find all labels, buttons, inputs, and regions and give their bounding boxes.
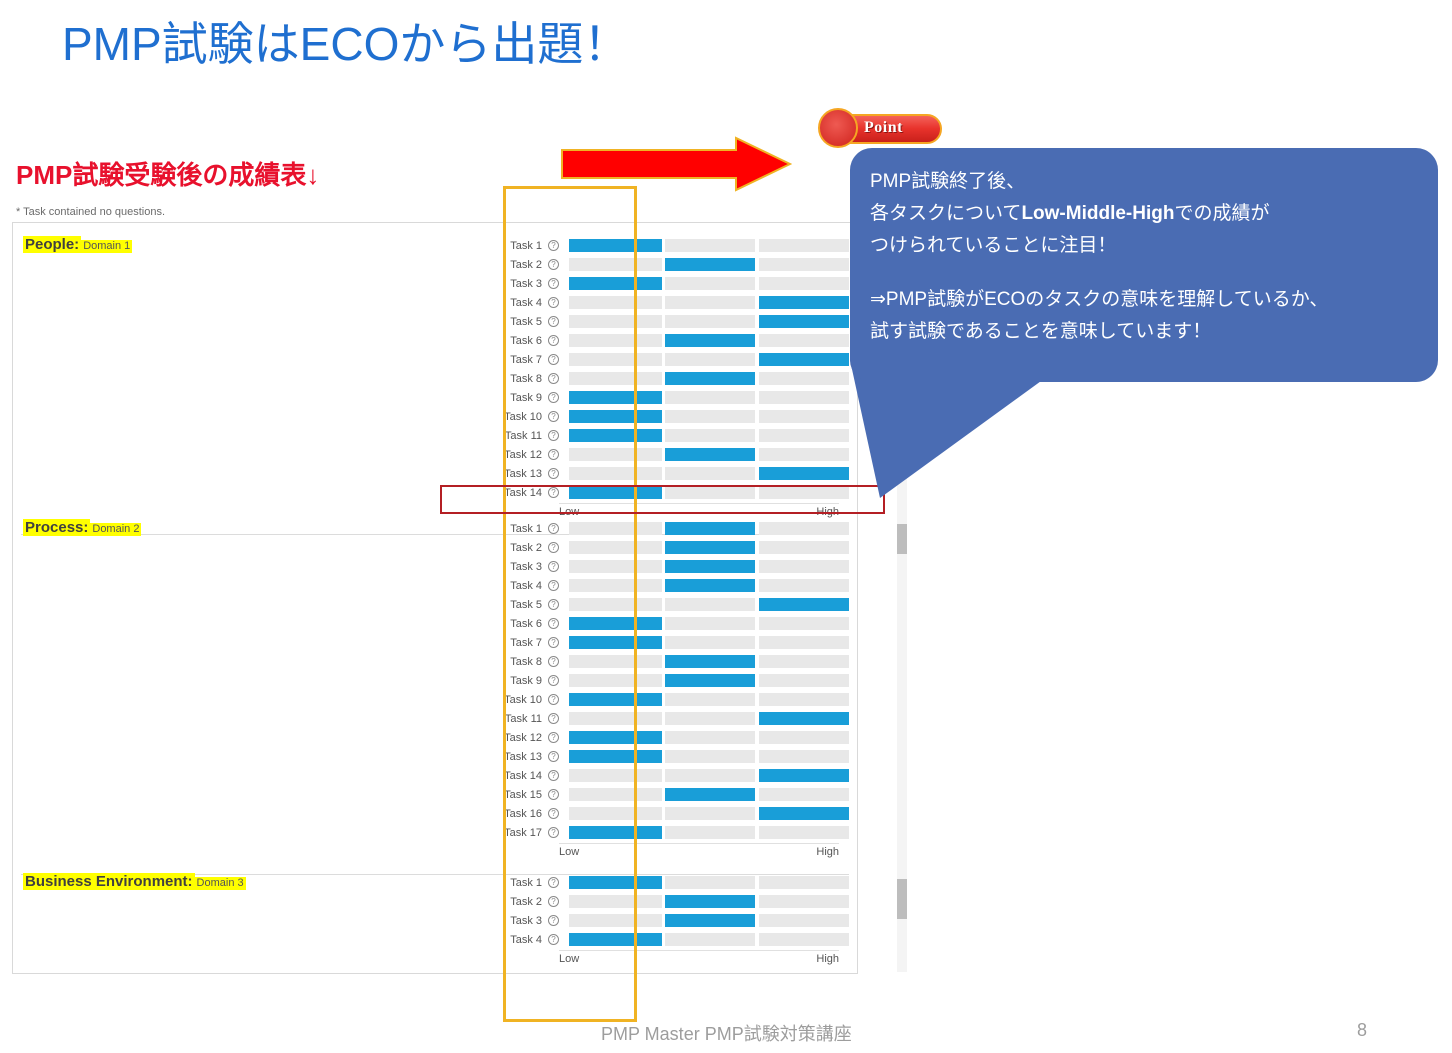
track-segment-middle	[665, 617, 755, 630]
track-segment-middle	[665, 731, 755, 744]
report-footnote: * Task contained no questions.	[16, 206, 165, 218]
track-segment-middle	[665, 391, 755, 404]
track-segment-high	[759, 895, 849, 908]
callout-line-3: つけられていることに注目！	[870, 235, 1116, 256]
track-segment-middle	[665, 410, 755, 423]
track-segment-middle	[665, 239, 755, 252]
track-segment-high	[759, 391, 849, 404]
track-segment-middle	[665, 712, 755, 725]
domain-name: Business Environment:	[23, 873, 195, 890]
domain-label: Business Environment:Domain 3	[23, 873, 246, 891]
callout-line-2a: 各タスクについて	[870, 203, 1021, 224]
callout-line-2c: での成績が	[1174, 203, 1269, 224]
domain-sublabel: Domain 2	[90, 523, 141, 536]
callout-line-1: PMP試験終了後、	[870, 171, 1025, 192]
axis-label-high: High	[816, 846, 839, 858]
low-column-highlight-box	[503, 186, 637, 1022]
callout-line-4: ⇒PMP試験がECOのタスクの意味を理解しているか、	[870, 289, 1328, 310]
proficiency-bar-middle	[665, 560, 755, 573]
page-title: PMP試験はECOから出題！	[62, 8, 629, 74]
point-badge: Point	[824, 114, 942, 144]
track-segment-high	[759, 826, 849, 839]
track-segment-middle	[665, 750, 755, 763]
domain-name: People:	[23, 236, 81, 253]
axis-label-highlight-box	[440, 485, 885, 514]
track-segment-high	[759, 788, 849, 801]
track-segment-middle	[665, 315, 755, 328]
track-segment-middle	[665, 876, 755, 889]
track-segment-middle	[665, 277, 755, 290]
track-segment-middle	[665, 598, 755, 611]
proficiency-bar-middle	[665, 334, 755, 347]
domain-label: People:Domain 1	[23, 236, 132, 254]
track-segment-middle	[665, 693, 755, 706]
track-segment-high	[759, 541, 849, 554]
axis-label-high: High	[816, 953, 839, 965]
track-segment-middle	[665, 467, 755, 480]
track-segment-high	[759, 258, 849, 271]
scrollbar-thumb-2[interactable]	[897, 524, 907, 554]
track-segment-high	[759, 448, 849, 461]
proficiency-bar-middle	[665, 448, 755, 461]
proficiency-bar-middle	[665, 788, 755, 801]
track-segment-middle	[665, 636, 755, 649]
proficiency-bar-middle	[665, 895, 755, 908]
proficiency-bar-middle	[665, 522, 755, 535]
proficiency-bar-middle	[665, 541, 755, 554]
domain-name: Process:	[23, 519, 90, 536]
track-segment-high	[759, 876, 849, 889]
track-segment-high	[759, 410, 849, 423]
track-segment-high	[759, 239, 849, 252]
proficiency-bar-high	[759, 467, 849, 480]
track-segment-high	[759, 560, 849, 573]
track-segment-high	[759, 674, 849, 687]
track-segment-middle	[665, 429, 755, 442]
proficiency-bar-high	[759, 769, 849, 782]
proficiency-bar-middle	[665, 674, 755, 687]
proficiency-bar-high	[759, 296, 849, 309]
domain-sublabel: Domain 1	[81, 240, 132, 253]
proficiency-bar-middle	[665, 372, 755, 385]
proficiency-bar-high	[759, 598, 849, 611]
point-badge-label: Point	[864, 119, 903, 137]
track-segment-middle	[665, 353, 755, 366]
track-segment-high	[759, 693, 849, 706]
callout-line-2b: Low-Middle-High	[1021, 203, 1174, 224]
proficiency-bar-middle	[665, 914, 755, 927]
section-subtitle: PMP試験受験後の成績表↓	[16, 155, 319, 192]
track-segment-middle	[665, 769, 755, 782]
page-number: 8	[1357, 1020, 1367, 1041]
track-segment-high	[759, 750, 849, 763]
scrollbar-thumb-3[interactable]	[897, 879, 907, 919]
track-segment-high	[759, 636, 849, 649]
domain-sublabel: Domain 3	[195, 877, 246, 890]
track-segment-middle	[665, 296, 755, 309]
track-segment-high	[759, 731, 849, 744]
track-segment-middle	[665, 807, 755, 820]
track-segment-high	[759, 372, 849, 385]
track-segment-high	[759, 579, 849, 592]
track-segment-high	[759, 429, 849, 442]
proficiency-bar-high	[759, 807, 849, 820]
callout-text: PMP試験終了後、 各タスクについてLow-Middle-Highでの成績が つ…	[870, 166, 1422, 348]
proficiency-bar-high	[759, 712, 849, 725]
proficiency-bar-middle	[665, 258, 755, 271]
proficiency-bar-high	[759, 353, 849, 366]
callout-line-5: 試す試験であることを意味しています！	[870, 321, 1211, 342]
proficiency-bar-high	[759, 315, 849, 328]
domain-label: Process:Domain 2	[23, 519, 141, 537]
track-segment-high	[759, 334, 849, 347]
track-segment-high	[759, 617, 849, 630]
proficiency-bar-middle	[665, 579, 755, 592]
proficiency-bar-middle	[665, 655, 755, 668]
red-arrow-icon	[560, 136, 792, 192]
track-segment-high	[759, 655, 849, 668]
track-segment-high	[759, 277, 849, 290]
point-callout: PMP試験終了後、 各タスクについてLow-Middle-Highでの成績が つ…	[850, 148, 1438, 382]
track-segment-high	[759, 933, 849, 946]
track-segment-middle	[665, 933, 755, 946]
track-segment-middle	[665, 826, 755, 839]
hand-pointer-icon	[818, 108, 858, 148]
footer-text: PMP Master PMP試験対策講座	[601, 1020, 852, 1046]
track-segment-high	[759, 522, 849, 535]
track-segment-high	[759, 914, 849, 927]
score-report-panel: People:Domain 1Task 1?Task 2?Task 3?Task…	[12, 222, 858, 974]
